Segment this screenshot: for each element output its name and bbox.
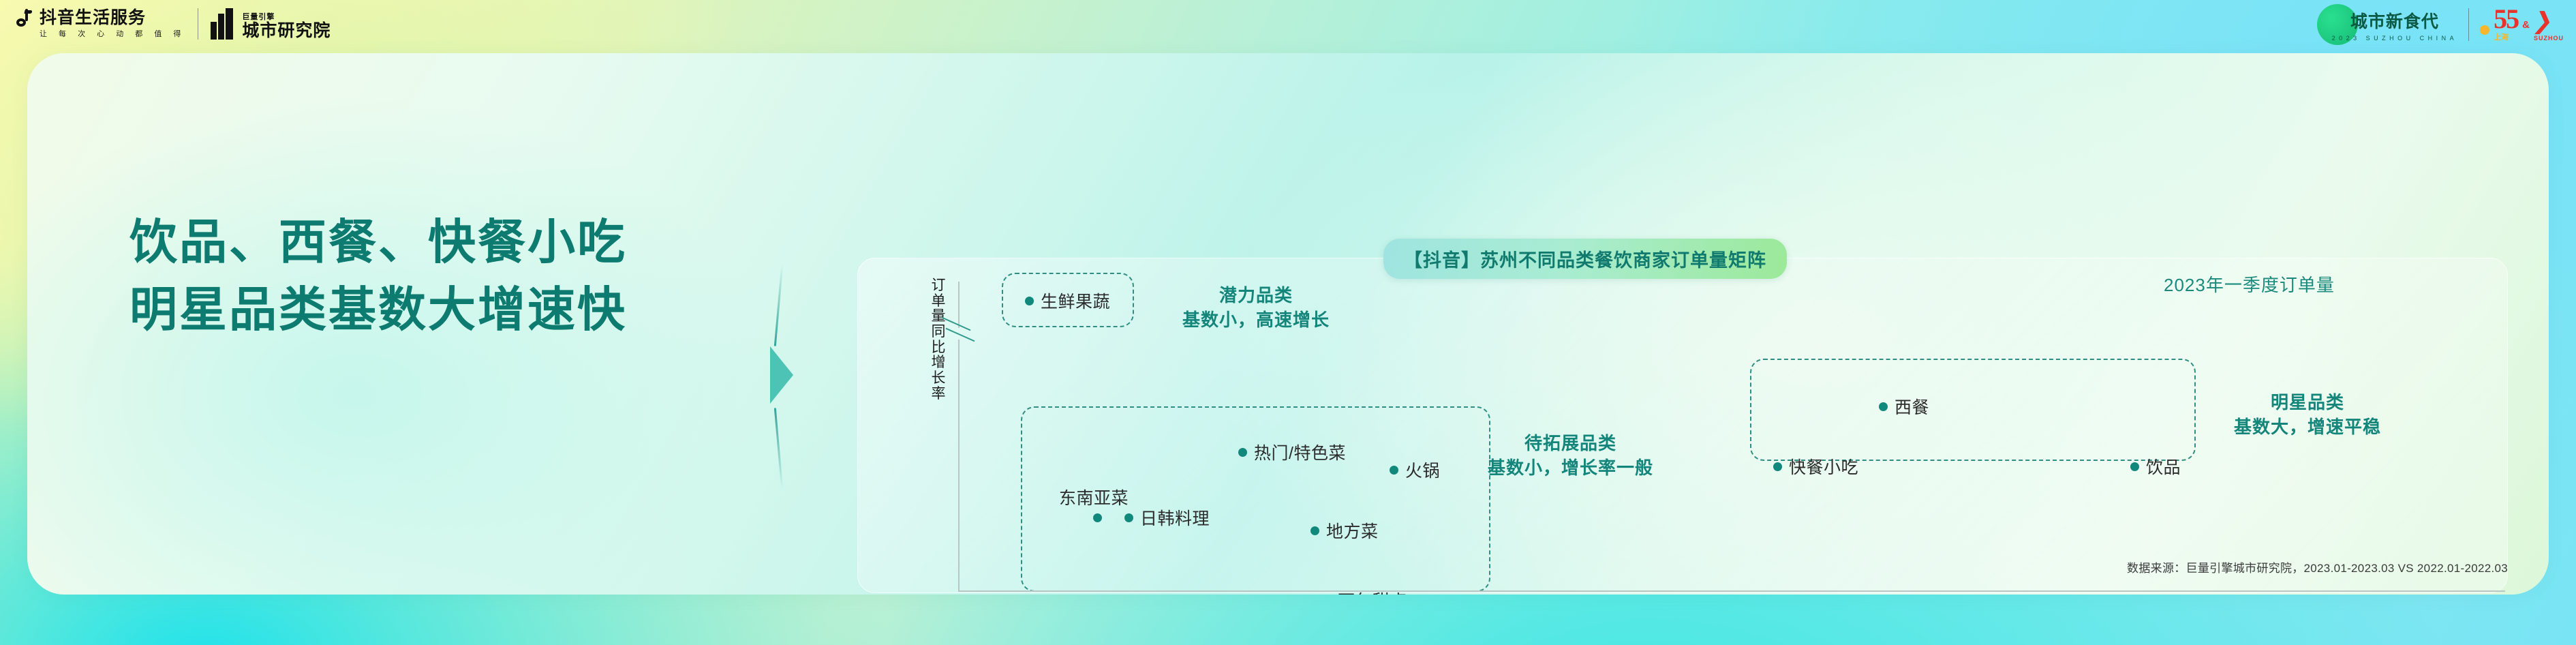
x-axis-label: 2023年一季度订单量 [2164, 271, 2335, 297]
data-point-label: 日韩料理 [1140, 505, 1210, 530]
y-axis-label: 订单量同比增长率 [928, 278, 949, 402]
data-point-dot [1238, 448, 1247, 457]
tiktok-note-icon [16, 9, 34, 27]
left-logo-group: 抖音生活服务 让 每 次 心 动 都 值 得 巨量引擎 城市研究院 [16, 8, 331, 40]
data-point-yinpin[interactable]: 饮品 [2130, 454, 2181, 479]
chengshixinshidai-subtitle: 2023 SUZHOU CHINA [2332, 35, 2458, 42]
data-point-xican[interactable]: 西餐 [1879, 394, 1929, 419]
data-point-label: 火锅 [1405, 457, 1440, 482]
annotation-expand-line1: 待拓展品类 [1488, 432, 1653, 456]
annotation-to-expand: 待拓展品类 基数小，增长率一般 [1488, 432, 1653, 481]
data-point-label: 西餐 [1895, 394, 1929, 419]
data-point-label: 面包甜点 [1338, 588, 1407, 595]
festival-suzhou-label: SUZHOU [2534, 35, 2564, 42]
data-point-label: 快餐小吃 [1789, 454, 1858, 479]
data-point-dot [1879, 402, 1888, 411]
festival-number: 55 [2494, 7, 2518, 31]
data-point-kuaican-xiaochi[interactable]: 快餐小吃 [1773, 454, 1858, 479]
five-five-festival-logo: 55 上海 & ❯ SUZHOU [2480, 7, 2564, 42]
content-card: 饮品、西餐、快餐小吃 明星品类基数大增速快 【抖音】苏州不同品类餐饮商家订单量矩… [27, 53, 2549, 595]
data-point-label: 东南亚菜 [1059, 485, 1129, 509]
annotation-star: 明星品类 基数大，增速平稳 [2234, 391, 2381, 440]
data-point-dot [1773, 462, 1782, 471]
x-axis-line [958, 590, 2505, 592]
header-bar: 抖音生活服务 让 每 次 心 动 都 值 得 巨量引擎 城市研究院 城市新食代 … [0, 0, 2576, 55]
y-axis-line-lower [958, 340, 960, 592]
chengshixinshidai-title: 城市新食代 [2350, 8, 2439, 33]
data-point-dot [1310, 526, 1319, 535]
headline-line-1: 饮品、西餐、快餐小吃 [129, 209, 627, 276]
source-note: 数据来源：巨量引擎城市研究院，2023.01-2023.03 VS 2022.0… [2127, 558, 2508, 575]
data-point-shengxianguoshu[interactable]: 生鲜果蔬 [1025, 288, 1110, 313]
data-point-label: 热门/特色菜 [1254, 440, 1346, 464]
cluster-star [1750, 359, 2196, 461]
juliang-logo: 巨量引擎 城市研究院 [211, 8, 331, 40]
juliang-logo-big: 城市研究院 [242, 22, 331, 40]
data-point-label: 地方菜 [1326, 518, 1379, 543]
data-point-label: 饮品 [2146, 454, 2181, 479]
data-point-dot [2130, 462, 2139, 471]
annotation-potential: 潜力品类 基数小，高速增长 [1182, 284, 1330, 333]
data-point-mianbao-tiandian[interactable]: 面包甜点 [1322, 588, 1407, 595]
data-point-dot [1390, 466, 1398, 475]
divider-curve-bottom [774, 408, 783, 490]
douyin-logo: 抖音生活服务 让 每 次 心 动 都 值 得 [16, 9, 185, 39]
y-axis-line-upper [958, 282, 960, 328]
headline-block: 饮品、西餐、快餐小吃 明星品类基数大增速快 [129, 209, 627, 344]
annotation-potential-line1: 潜力品类 [1182, 284, 1330, 308]
divider-curve-top [774, 265, 783, 346]
data-point-dot [1025, 297, 1034, 305]
yellow-dot-decoration [2480, 25, 2489, 35]
data-point-dot [1124, 513, 1133, 522]
douyin-logo-slogan: 让 每 次 心 动 都 值 得 [40, 28, 185, 39]
chengshixinshidai-logo: 城市新食代 2023 SUZHOU CHINA [2332, 8, 2458, 42]
building-icon [211, 8, 235, 40]
festival-ampersand: & [2522, 19, 2530, 31]
logo-divider [198, 8, 198, 40]
annotation-star-line1: 明星品类 [2234, 391, 2381, 415]
annotation-potential-line2: 基数小，高速增长 [1182, 308, 1330, 333]
data-point-dot [1093, 513, 1102, 522]
chart-title-text: 【抖音】苏州不同品类餐饮商家订单量矩阵 [1404, 250, 1766, 271]
annotation-star-line2: 基数大，增速平稳 [2234, 415, 2381, 440]
data-point-difangcai[interactable]: 地方菜 [1310, 518, 1379, 543]
annotation-expand-line2: 基数小，增长率一般 [1488, 456, 1653, 481]
juliang-logo-small: 巨量引擎 [242, 11, 331, 22]
right-logo-group: 城市新食代 2023 SUZHOU CHINA 55 上海 & ❯ SUZHOU [2332, 7, 2564, 42]
chevron-right-icon [770, 346, 793, 404]
chart-title-banner: 【抖音】苏州不同品类餐饮商家订单量矩阵 [1383, 239, 1787, 279]
data-point-label: 生鲜果蔬 [1041, 288, 1110, 313]
data-point-rihan-liaoli[interactable]: 日韩料理 [1124, 505, 1210, 530]
swoosh-icon: ❯ [2531, 7, 2567, 35]
headline-line-2: 明星品类基数大增速快 [129, 276, 627, 344]
right-logo-divider [2468, 8, 2469, 41]
douyin-logo-title: 抖音生活服务 [40, 10, 146, 27]
data-point-huoguo[interactable]: 火锅 [1390, 457, 1440, 482]
data-point-remen-tesecai[interactable]: 热门/特色菜 [1238, 440, 1346, 464]
data-point-dongnanyacai[interactable]: 东南亚菜 [1063, 485, 1129, 522]
